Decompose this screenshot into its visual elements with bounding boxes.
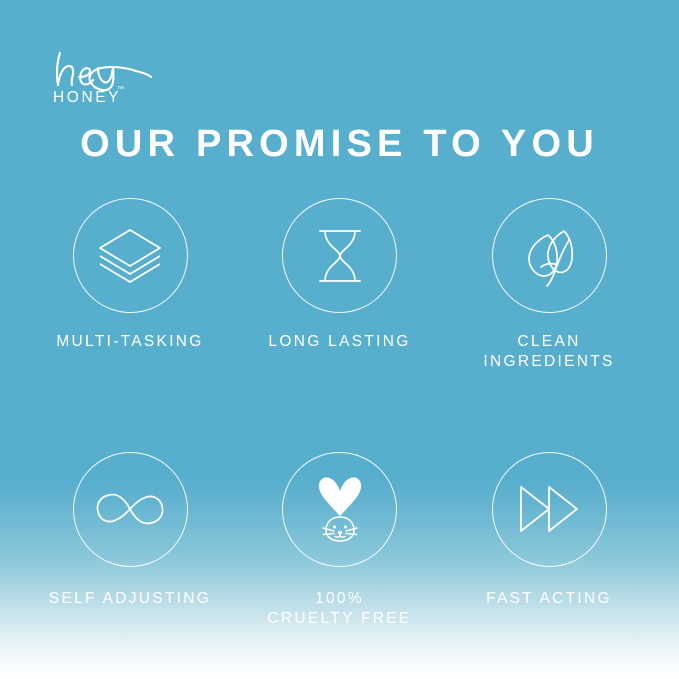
benefit-item-fast-acting: FAST ACTING — [449, 452, 649, 609]
benefit-row: MULTI-TASKING LONG LASTING — [30, 198, 649, 373]
page-title: OUR PROMISE TO YOU — [0, 124, 679, 166]
fast-forward-icon — [492, 452, 607, 567]
benefit-label: LONG LASTING — [268, 332, 410, 352]
benefit-label: 100% CRUELTY FREE — [267, 589, 411, 630]
trademark-mark: ™ — [117, 86, 124, 93]
benefit-item-multi-tasking: MULTI-TASKING — [30, 198, 230, 352]
benefit-item-self-adjusting: SELF ADJUSTING — [30, 452, 230, 609]
benefit-item-clean-ingredients: CLEAN INGREDIENTS — [449, 198, 649, 373]
hey-script-icon — [52, 48, 162, 92]
benefit-item-long-lasting: LONG LASTING — [240, 198, 440, 352]
promise-card: HONEY ™ OUR PROMISE TO YOU MULTI-TASKING — [0, 0, 679, 679]
hourglass-icon — [282, 198, 397, 313]
layers-icon — [73, 198, 188, 313]
leaves-icon — [492, 198, 607, 313]
infinity-icon — [73, 452, 188, 567]
bunny-heart-icon — [282, 452, 397, 567]
benefit-grid: MULTI-TASKING LONG LASTING — [30, 198, 649, 630]
benefit-label: CLEAN INGREDIENTS — [483, 332, 614, 373]
benefit-row: SELF ADJUSTING — [30, 452, 649, 630]
brand-wordmark: HONEY — [53, 90, 121, 106]
benefit-label: SELF ADJUSTING — [49, 589, 211, 609]
benefit-item-cruelty-free: 100% CRUELTY FREE — [240, 452, 440, 630]
benefit-label: MULTI-TASKING — [56, 332, 203, 352]
benefit-label: FAST ACTING — [486, 589, 612, 609]
brand-logo: HONEY ™ — [52, 48, 202, 112]
